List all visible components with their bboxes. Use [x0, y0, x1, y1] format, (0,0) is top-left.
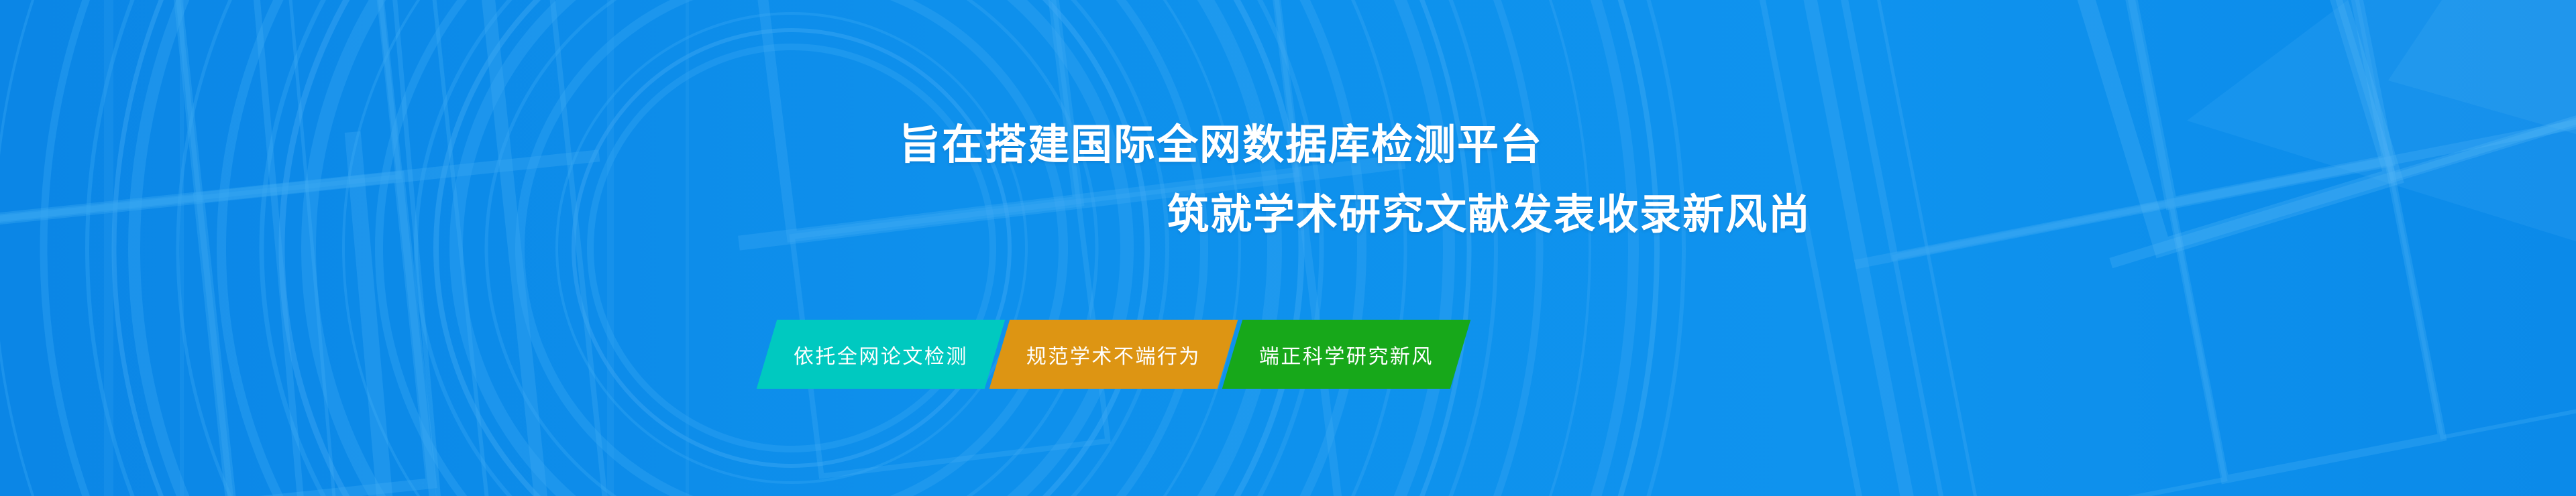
feature-tag-detection[interactable]: 依托全网论文检测 [757, 320, 1006, 389]
feature-tag-integrity[interactable]: 端正科学研究新风 [1222, 320, 1471, 389]
feature-tag-integrity-label: 端正科学研究新风 [1259, 340, 1434, 369]
feature-tag-strip: 依托全网论文检测 规范学术不端行为 端正科学研究新风 [767, 320, 1460, 389]
promo-banner: 旨在搭建国际全网数据库检测平台 筑就学术研究文献发表收录新风尚 依托全网论文检测… [0, 0, 2576, 496]
feature-tag-detection-label: 依托全网论文检测 [794, 340, 968, 369]
background-pattern [0, 0, 2576, 496]
feature-tag-misconduct-label: 规范学术不端行为 [1026, 340, 1201, 369]
feature-tag-misconduct[interactable]: 规范学术不端行为 [989, 320, 1238, 389]
